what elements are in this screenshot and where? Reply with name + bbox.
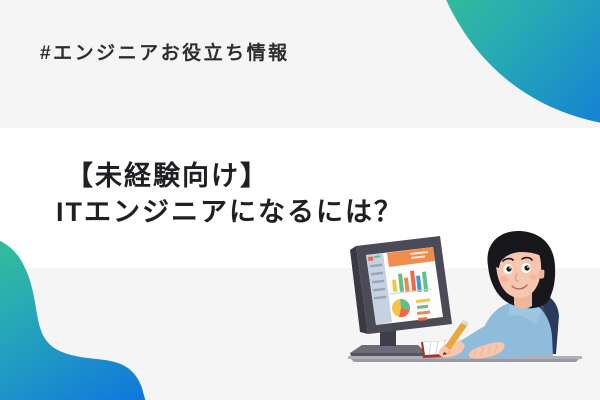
banner-canvas: #エンジニアお役立ち情報 【未経験向け】 ITエンジニアになるには？ [0, 0, 600, 400]
title-line-2: ITエンジニアになるには？ [56, 194, 403, 230]
monitor-icon [350, 236, 452, 356]
illustration-woman-working-at-desk [330, 228, 600, 373]
page-title: 【未経験向け】 ITエンジニアになるには？ [56, 158, 403, 230]
person-head-icon [487, 231, 555, 309]
hashtag-label: #エンジニアお役立ち情報 [40, 38, 290, 65]
title-line-1: 【未経験向け】 [56, 158, 403, 194]
